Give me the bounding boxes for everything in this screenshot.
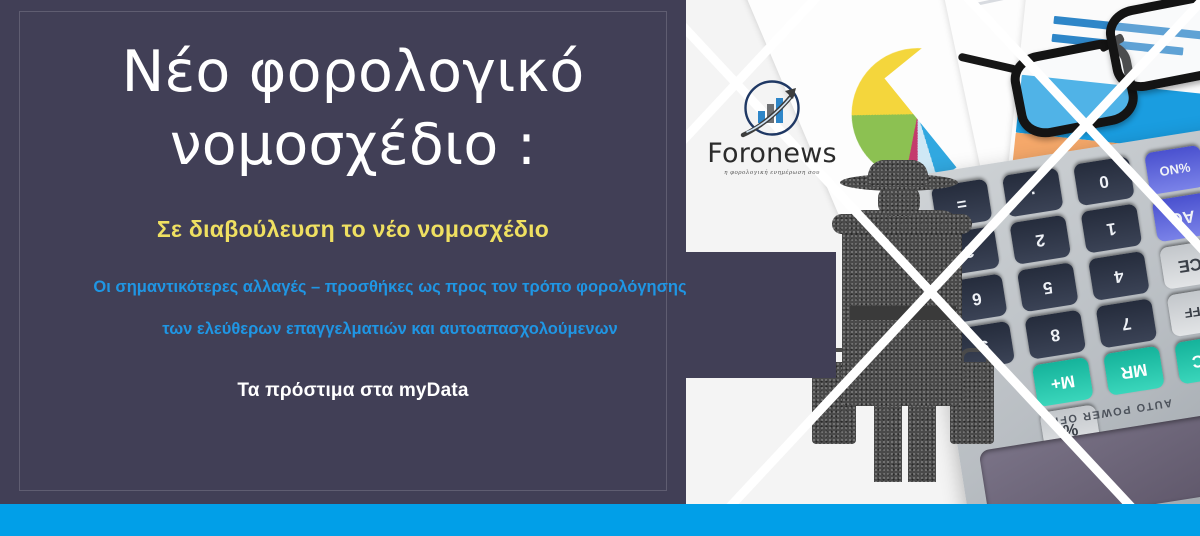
calculator-key-mc[interactable]: MC xyxy=(1174,334,1200,384)
summary-line-1: Οι σημαντικότερες αλλαγές – προσθήκες ως… xyxy=(40,266,740,308)
calculator-key--[interactable]: · xyxy=(1002,167,1064,217)
calculator-key-8[interactable]: 8 xyxy=(1024,309,1086,359)
subtitle-kicker: Σε διαβούλευση το νέο νομοσχέδιο xyxy=(40,216,666,243)
headline-line-1: Νέο φορολογικό xyxy=(40,36,666,109)
calculator-key-ce[interactable]: CE xyxy=(1159,240,1200,290)
hat-crown xyxy=(868,160,928,186)
footnote-text: Τα πρόστιμα στα myData xyxy=(40,380,666,402)
summary-text: Οι σημαντικότερες αλλαγές – προσθήκες ως… xyxy=(40,266,740,350)
summary-line-2: των ελεύθερων επαγγελματιών και αυτοαπασ… xyxy=(40,308,740,350)
calculator-key--no[interactable]: %NO xyxy=(1144,145,1200,195)
calculator-key-1[interactable]: 1 xyxy=(1080,203,1142,253)
calculator-key-4[interactable]: 4 xyxy=(1088,251,1150,301)
foronews-logo[interactable]: Foronews η φορολογική ενημέρωση σου xyxy=(700,78,844,178)
bottom-accent-bar xyxy=(0,504,1200,536)
calculator-key-m-[interactable]: M+ xyxy=(1032,357,1094,407)
calculator-key-off[interactable]: OFF xyxy=(1167,287,1200,337)
calculator-key-ac[interactable]: AC xyxy=(1152,192,1200,242)
logo-tagline: η φορολογική ενημέρωση σου xyxy=(700,170,844,176)
calculator-key-5[interactable]: 5 xyxy=(1017,262,1079,312)
calculator-key-mr[interactable]: MR xyxy=(1103,346,1165,396)
foronews-growth-chart-logo xyxy=(733,78,811,142)
calculator-key-2[interactable]: 2 xyxy=(1009,215,1071,265)
calculator-key-0[interactable]: 0 xyxy=(1073,156,1135,206)
businessman-silhouette xyxy=(822,166,988,496)
calculator-key-7[interactable]: 7 xyxy=(1095,298,1157,348)
headline-line-2: νομοσχέδιο : xyxy=(40,109,666,182)
logo-wordmark: Foronews xyxy=(700,140,844,167)
banner-canvas: =·0%NO321AC654CE987OFFM+MRMC% AUTO POWER… xyxy=(0,0,1200,536)
page-title: Νέο φορολογικό νομοσχέδιο : xyxy=(40,36,666,182)
